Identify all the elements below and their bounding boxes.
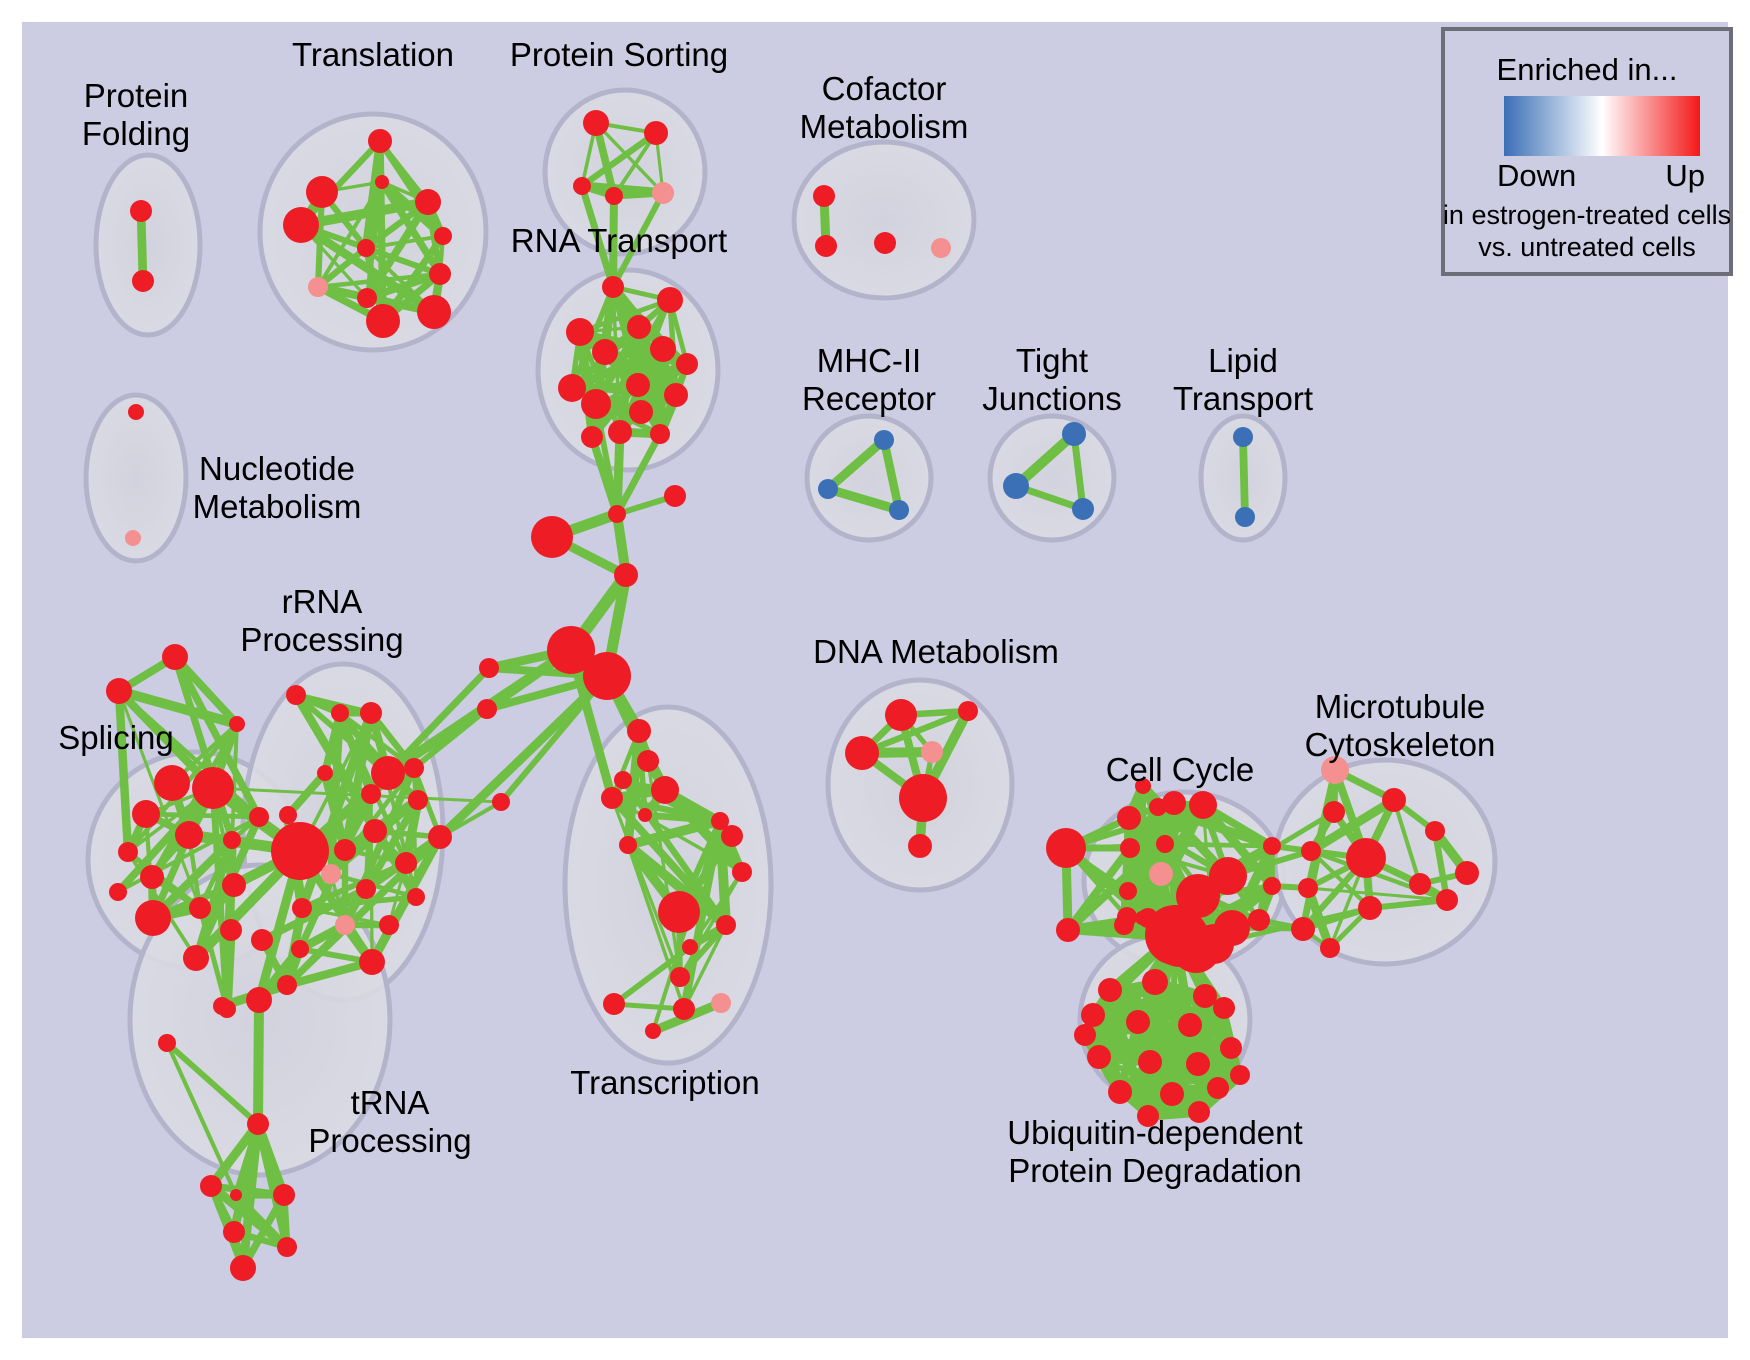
network-node[interactable] xyxy=(558,374,586,402)
network-node[interactable] xyxy=(652,182,674,204)
network-node[interactable] xyxy=(1209,857,1247,895)
network-node[interactable] xyxy=(845,736,879,770)
cluster-hull-protein-folding xyxy=(96,155,200,335)
network-node[interactable] xyxy=(361,784,381,804)
cluster-label-nucleotide-metabolism: NucleotideMetabolism xyxy=(193,450,362,525)
network-node[interactable] xyxy=(581,389,611,419)
network-node[interactable] xyxy=(200,1175,222,1197)
network-node[interactable] xyxy=(109,883,127,901)
network-node[interactable] xyxy=(1455,861,1479,885)
network-node[interactable] xyxy=(626,373,650,397)
network-node[interactable] xyxy=(603,993,625,1015)
enrichment-map-figure: ProteinFoldingTranslationProtein Sorting… xyxy=(0,0,1750,1360)
network-node[interactable] xyxy=(135,900,171,936)
network-node[interactable] xyxy=(308,277,328,297)
network-node[interactable] xyxy=(286,685,306,705)
network-node[interactable] xyxy=(711,993,731,1013)
network-node[interactable] xyxy=(366,304,400,338)
network-node[interactable] xyxy=(251,929,273,951)
network-node[interactable] xyxy=(335,915,355,935)
network-node[interactable] xyxy=(581,426,603,448)
network-node[interactable] xyxy=(813,185,835,207)
network-node[interactable] xyxy=(644,121,668,145)
legend-title: Enriched in... xyxy=(1497,52,1678,87)
legend-up-label: Up xyxy=(1665,158,1705,193)
network-node[interactable] xyxy=(132,270,154,292)
cluster-label-transcription: Transcription xyxy=(570,1064,760,1101)
network-node[interactable] xyxy=(479,658,499,678)
network-node[interactable] xyxy=(638,808,652,822)
network-node[interactable] xyxy=(670,967,690,987)
network-node[interactable] xyxy=(645,1023,661,1039)
cluster-label-protein-folding: ProteinFolding xyxy=(82,77,190,152)
cluster-label-splicing: Splicing xyxy=(58,719,174,756)
network-canvas: ProteinFoldingTranslationProtein Sorting… xyxy=(0,0,1750,1360)
network-edge xyxy=(1243,437,1245,517)
cluster-label-protein-sorting: Protein Sorting xyxy=(510,36,728,73)
network-node[interactable] xyxy=(492,793,510,811)
network-node[interactable] xyxy=(1207,1077,1229,1099)
network-node[interactable] xyxy=(732,862,752,882)
network-node[interactable] xyxy=(673,998,695,1020)
network-edge xyxy=(414,768,416,897)
network-node[interactable] xyxy=(637,750,659,772)
network-node[interactable] xyxy=(601,787,623,809)
network-node[interactable] xyxy=(395,852,417,874)
network-node[interactable] xyxy=(1114,915,1134,935)
network-node[interactable] xyxy=(357,288,377,308)
network-node[interactable] xyxy=(292,898,312,918)
network-node[interactable] xyxy=(1213,997,1235,1019)
network-node[interactable] xyxy=(317,765,333,781)
network-node[interactable] xyxy=(1235,507,1255,527)
network-node[interactable] xyxy=(899,774,947,822)
network-node[interactable] xyxy=(277,1237,297,1257)
legend-caption-line1: in estrogen-treated cells xyxy=(1443,200,1731,230)
cluster-label-dna-metabolism: DNA Metabolism xyxy=(813,633,1059,670)
network-node[interactable] xyxy=(889,500,909,520)
network-node[interactable] xyxy=(874,430,894,450)
network-node[interactable] xyxy=(407,888,425,906)
network-node[interactable] xyxy=(404,758,424,778)
network-node[interactable] xyxy=(118,842,138,862)
network-node[interactable] xyxy=(629,400,653,424)
network-node[interactable] xyxy=(1117,806,1141,830)
network-node[interactable] xyxy=(230,1255,256,1281)
network-node[interactable] xyxy=(183,945,209,971)
network-node[interactable] xyxy=(651,776,679,804)
cluster-label-rna-transport: RNA Transport xyxy=(511,222,727,259)
network-node[interactable] xyxy=(1072,498,1094,520)
network-node[interactable] xyxy=(1409,873,1431,895)
network-node[interactable] xyxy=(220,919,242,941)
network-node[interactable] xyxy=(213,997,231,1015)
network-node[interactable] xyxy=(132,800,160,828)
network-edge xyxy=(227,930,231,1009)
network-node[interactable] xyxy=(1120,838,1140,858)
network-node[interactable] xyxy=(415,189,441,215)
network-node[interactable] xyxy=(583,110,609,136)
network-node[interactable] xyxy=(1162,791,1186,815)
network-node[interactable] xyxy=(273,1184,295,1206)
network-node[interactable] xyxy=(1160,1082,1184,1106)
network-node[interactable] xyxy=(249,807,269,827)
network-node[interactable] xyxy=(531,516,573,558)
network-node[interactable] xyxy=(721,825,743,847)
network-node[interactable] xyxy=(429,263,451,285)
network-node[interactable] xyxy=(650,336,676,362)
network-node[interactable] xyxy=(477,699,497,719)
network-node[interactable] xyxy=(1156,835,1174,853)
cluster-label-mhc-ii-receptor: MHC-IIReceptor xyxy=(802,342,936,417)
network-node[interactable] xyxy=(106,678,132,704)
network-node[interactable] xyxy=(375,175,389,189)
network-node[interactable] xyxy=(1108,1080,1132,1104)
network-node[interactable] xyxy=(583,652,631,700)
network-node[interactable] xyxy=(1233,427,1253,447)
network-node[interactable] xyxy=(229,716,245,732)
cluster-label-microtubule-cytoskeleton: MicrotubuleCytoskeleton xyxy=(1305,688,1496,763)
legend-caption-line2: vs. untreated cells xyxy=(1478,232,1696,262)
network-node[interactable] xyxy=(627,315,651,339)
network-node[interactable] xyxy=(1193,984,1217,1008)
network-node[interactable] xyxy=(592,339,618,365)
network-node[interactable] xyxy=(291,940,309,958)
network-node[interactable] xyxy=(657,287,683,313)
network-node[interactable] xyxy=(619,836,637,854)
cluster-hull-mhc-ii-receptor xyxy=(807,416,931,540)
network-node[interactable] xyxy=(1301,841,1321,861)
network-node[interactable] xyxy=(1003,473,1029,499)
network-node[interactable] xyxy=(1382,788,1406,812)
network-node[interactable] xyxy=(602,276,624,298)
cluster-label-cofactor-metabolism: CofactorMetabolism xyxy=(800,70,969,145)
network-node[interactable] xyxy=(140,865,164,889)
network-node[interactable] xyxy=(223,831,241,849)
network-node[interactable] xyxy=(371,756,405,790)
network-node[interactable] xyxy=(1142,969,1168,995)
network-node[interactable] xyxy=(368,129,392,153)
network-node[interactable] xyxy=(408,790,428,810)
network-node[interactable] xyxy=(230,1189,242,1201)
network-node[interactable] xyxy=(154,765,190,801)
network-node[interactable] xyxy=(189,897,211,919)
network-node[interactable] xyxy=(874,232,896,254)
network-node[interactable] xyxy=(360,702,382,724)
network-node[interactable] xyxy=(921,741,943,763)
network-node[interactable] xyxy=(428,825,452,849)
network-node[interactable] xyxy=(1320,938,1340,958)
network-node[interactable] xyxy=(1119,882,1137,900)
network-node[interactable] xyxy=(716,915,736,935)
network-node[interactable] xyxy=(1098,978,1122,1002)
network-node[interactable] xyxy=(1046,828,1086,868)
network-node[interactable] xyxy=(359,949,385,975)
network-node[interactable] xyxy=(818,479,838,499)
network-node[interactable] xyxy=(664,485,686,507)
network-node[interactable] xyxy=(130,200,152,222)
network-node[interactable] xyxy=(1291,917,1315,941)
network-edge xyxy=(258,1000,259,1124)
network-node[interactable] xyxy=(1178,1013,1202,1037)
network-node[interactable] xyxy=(658,891,700,933)
network-node[interactable] xyxy=(331,704,349,722)
network-node[interactable] xyxy=(334,839,356,861)
network-node[interactable] xyxy=(1171,923,1221,973)
network-node[interactable] xyxy=(247,1113,269,1135)
network-node[interactable] xyxy=(614,563,638,587)
network-node[interactable] xyxy=(1298,878,1318,898)
network-node[interactable] xyxy=(1358,896,1382,920)
network-node[interactable] xyxy=(1087,1045,1111,1069)
network-node[interactable] xyxy=(627,719,651,743)
network-node[interactable] xyxy=(306,176,338,208)
network-node[interactable] xyxy=(608,420,632,444)
network-node[interactable] xyxy=(379,915,399,935)
network-node[interactable] xyxy=(271,822,329,880)
network-node[interactable] xyxy=(958,701,978,721)
network-node[interactable] xyxy=(1248,909,1270,931)
network-node[interactable] xyxy=(223,1221,245,1243)
network-node[interactable] xyxy=(815,235,837,257)
network-node[interactable] xyxy=(192,767,234,809)
network-node[interactable] xyxy=(357,239,375,257)
cluster-label-ubiquitin-protein-degradation: Ubiquitin-dependentProtein Degradation xyxy=(1007,1114,1302,1189)
legend-down-label: Down xyxy=(1497,158,1576,193)
network-node[interactable] xyxy=(356,879,376,899)
network-node[interactable] xyxy=(664,383,688,407)
network-node[interactable] xyxy=(573,177,591,195)
network-node[interactable] xyxy=(434,227,452,245)
network-node[interactable] xyxy=(1056,918,1080,942)
network-node[interactable] xyxy=(1189,791,1217,819)
network-node[interactable] xyxy=(608,505,626,523)
network-node[interactable] xyxy=(246,987,272,1013)
cluster-label-cell-cycle: Cell Cycle xyxy=(1106,751,1255,788)
network-node[interactable] xyxy=(1135,911,1149,925)
network-node[interactable] xyxy=(605,187,623,205)
network-node[interactable] xyxy=(1346,838,1386,878)
network-node[interactable] xyxy=(175,821,203,849)
network-node[interactable] xyxy=(1138,1050,1162,1074)
network-node[interactable] xyxy=(1074,1024,1096,1046)
network-node[interactable] xyxy=(1062,422,1086,446)
network-node[interactable] xyxy=(908,834,932,858)
network-node[interactable] xyxy=(566,318,594,346)
legend-color-bar xyxy=(1504,96,1700,156)
network-node[interactable] xyxy=(417,295,451,329)
network-node[interactable] xyxy=(1186,1052,1210,1076)
network-node[interactable] xyxy=(682,939,698,955)
network-node[interactable] xyxy=(614,771,632,789)
cluster-label-translation: Translation xyxy=(292,36,454,73)
network-node[interactable] xyxy=(1081,1003,1105,1027)
network-node[interactable] xyxy=(222,873,246,897)
network-node[interactable] xyxy=(931,238,951,258)
network-node[interactable] xyxy=(650,424,670,444)
network-node[interactable] xyxy=(125,530,141,546)
network-node[interactable] xyxy=(1149,862,1173,886)
network-node[interactable] xyxy=(1436,889,1458,911)
network-node[interactable] xyxy=(363,819,387,843)
network-node[interactable] xyxy=(885,699,917,731)
network-node[interactable] xyxy=(1126,1010,1150,1034)
network-node[interactable] xyxy=(1220,1037,1242,1059)
network-node[interactable] xyxy=(277,975,297,995)
network-node[interactable] xyxy=(158,1034,176,1052)
network-node[interactable] xyxy=(283,207,319,243)
legend: Enriched in... Down Up in estrogen-treat… xyxy=(1443,29,1731,274)
network-node[interactable] xyxy=(1230,1065,1250,1085)
network-node[interactable] xyxy=(321,864,341,884)
network-node[interactable] xyxy=(162,644,188,670)
network-node[interactable] xyxy=(128,404,144,420)
network-node[interactable] xyxy=(1323,801,1345,823)
network-node[interactable] xyxy=(1263,837,1281,855)
network-node[interactable] xyxy=(676,353,698,375)
network-node[interactable] xyxy=(279,806,297,824)
network-node[interactable] xyxy=(1263,877,1281,895)
network-node[interactable] xyxy=(1425,821,1445,841)
